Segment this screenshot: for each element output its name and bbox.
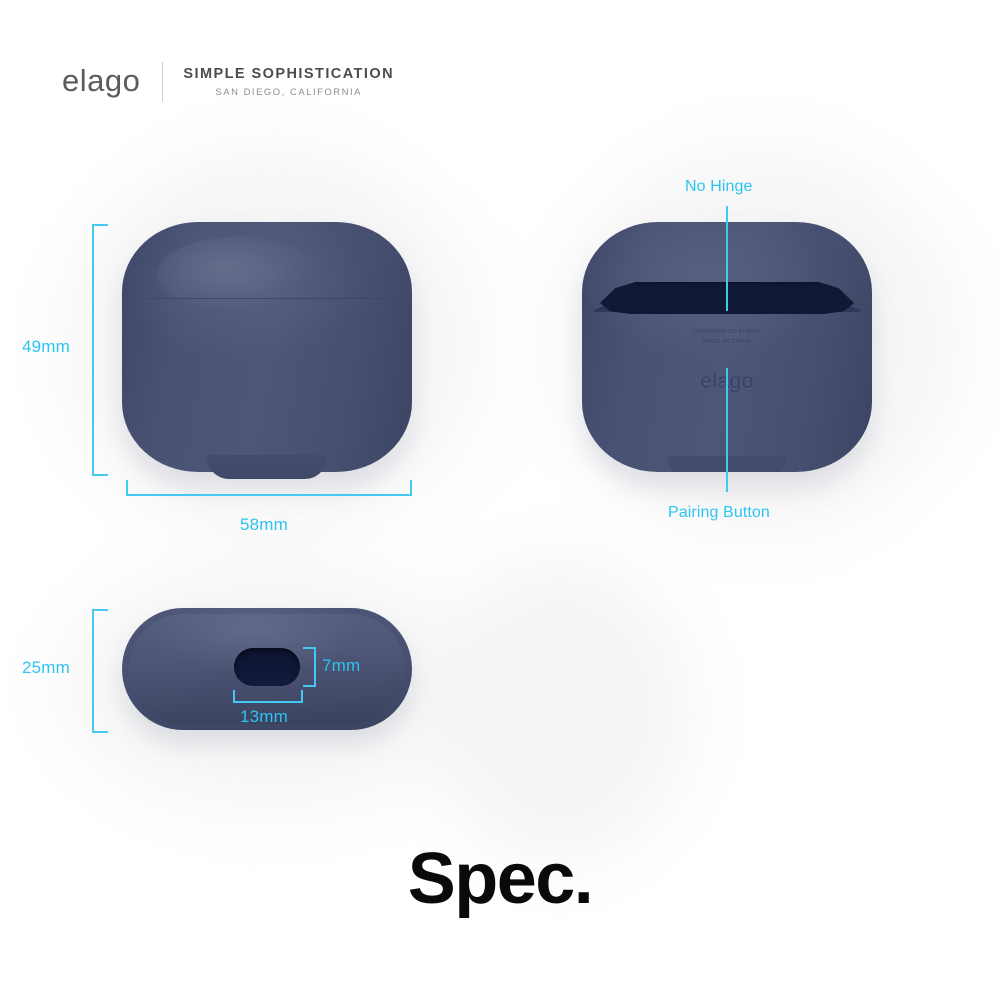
callout-pairing-button: Pairing Button [668, 504, 770, 522]
port-width-bracket [233, 690, 303, 703]
dimension-label-port-height: 7mm [322, 656, 360, 676]
tagline-primary: SIMPLE SOPHISTICATION [183, 66, 394, 83]
background-blob [430, 560, 690, 860]
case-fineprint: DESIGNED BY ELAGO MADE IN CHINA [582, 327, 872, 348]
dimension-label-width-front: 58mm [240, 515, 288, 535]
tagline-location: SAN DIEGO, CALIFORNIA [183, 87, 394, 98]
dimension-label-height-front: 49mm [22, 337, 70, 357]
height-bracket-front [92, 224, 108, 476]
port-height-bracket [303, 647, 316, 687]
fineprint-made-in: MADE IN CHINA [582, 337, 872, 347]
leader-line-pairing-button [726, 368, 728, 492]
dimension-label-port-width: 13mm [240, 707, 288, 727]
page-title: Spec. [0, 838, 1000, 920]
case-lid-seam [125, 298, 409, 299]
spec-sheet-page: elago SIMPLE SOPHISTICATION SAN DIEGO, C… [0, 0, 1000, 1000]
elago-logo: elago [62, 65, 140, 99]
height-bracket-bottom [92, 609, 108, 733]
callout-no-hinge: No Hinge [685, 178, 753, 196]
fineprint-designed-by: DESIGNED BY ELAGO [582, 327, 872, 337]
brand-header: elago SIMPLE SOPHISTICATION SAN DIEGO, C… [62, 58, 394, 106]
brand-tagline: SIMPLE SOPHISTICATION SAN DIEGO, CALIFOR… [183, 66, 394, 99]
case-highlight [157, 237, 319, 312]
leader-line-no-hinge [726, 206, 728, 311]
width-bracket-front [126, 480, 412, 496]
case-bottom-notch [207, 455, 327, 479]
header-divider [162, 62, 163, 102]
charging-port-cutout [234, 648, 300, 686]
airpods-case-front-view [122, 222, 412, 472]
dimension-label-height-bottom: 25mm [22, 658, 70, 678]
